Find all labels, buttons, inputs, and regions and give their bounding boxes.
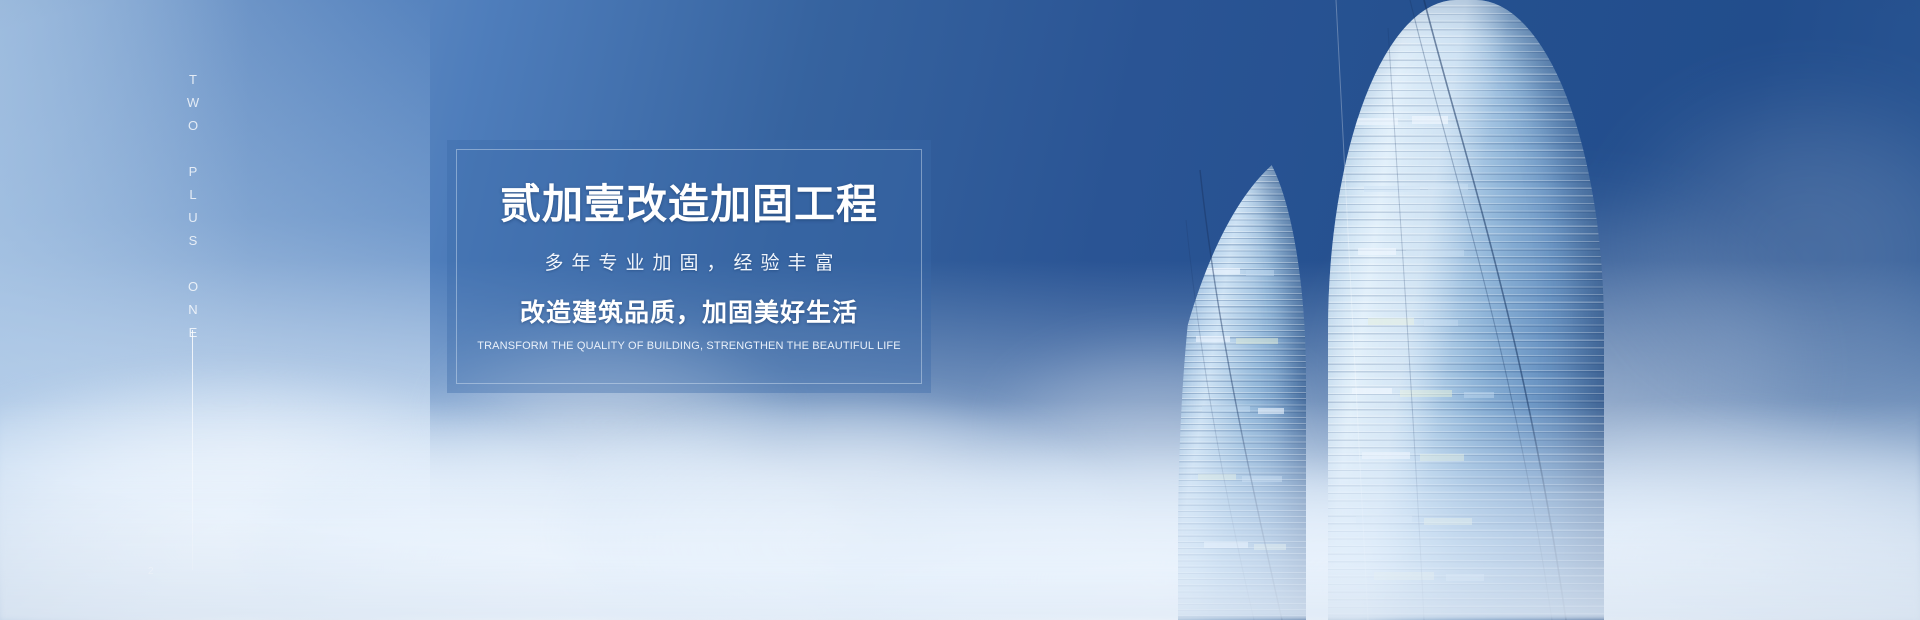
panel-content: 贰加壹改造加固工程 多年专业加固，经验丰富 改造建筑品质，加固美好生活 TRAN… [447,180,931,353]
horizon-haze [0,400,1920,620]
tower-window [1406,250,1464,256]
corner-mark: 2 [148,566,155,577]
slogan: 改造建筑品质，加固美好生活 [461,298,917,329]
hero-text-panel: 贰加壹改造加固工程 多年专业加固，经验丰富 改造建筑品质，加固美好生活 TRAN… [447,140,931,393]
page-title: 贰加壹改造加固工程 [461,180,917,228]
tower-window [1246,270,1274,276]
tower-window [1352,388,1392,394]
vertical-brand-label: TWO PLUS ONE [187,72,200,348]
tower-window [1354,118,1398,125]
tower-window [1200,268,1240,274]
vertical-divider-line [192,330,193,570]
tower-window [1424,320,1458,326]
vertical-brand-text: TWO PLUS ONE [176,72,210,332]
tower-window [1364,186,1420,192]
tower-window [1400,390,1452,397]
tower-window [1428,184,1468,190]
tower-window [1196,336,1230,342]
subtitle: 多年专业加固，经验丰富 [461,252,917,277]
tower-window [1464,392,1494,398]
hero-banner: TWO PLUS ONE 2 贰加壹改造加固工程 多年专业加固，经验丰富 改造建… [0,0,1920,620]
tower-window [1368,318,1414,325]
tower-window [1358,248,1396,255]
tower-window [1412,116,1448,124]
tower-window [1236,338,1278,344]
slogan-english: TRANSFORM THE QUALITY OF BUILDING, STREN… [461,339,917,353]
